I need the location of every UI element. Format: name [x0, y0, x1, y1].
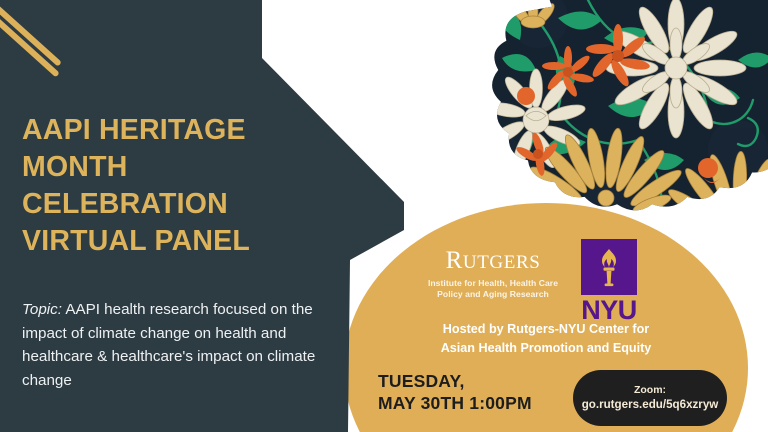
nyu-logo: NYU: [572, 239, 646, 324]
zoom-label: Zoom:: [634, 383, 666, 397]
event-date-line-2: MAY 30TH 1:00PM: [378, 392, 532, 414]
page-title: AAPI HERITAGE MONTH CELEBRATION VIRTUAL …: [22, 112, 322, 260]
hosted-by-text: Hosted by Rutgers-NYU Center for Asian H…: [398, 320, 694, 358]
rutgers-logo: RUTGERS Institute for Health, Health Car…: [418, 248, 568, 301]
event-date: TUESDAY, MAY 30TH 1:00PM: [378, 370, 532, 414]
topic-body: AAPI health research focused on the impa…: [22, 301, 315, 389]
rutgers-sub-line-2: Policy and Aging Research: [418, 289, 568, 300]
gold-diagonal-lines-decor: [0, 0, 130, 100]
title-line-1: AAPI HERITAGE: [22, 112, 322, 149]
rutgers-wordmark-cap: R: [446, 247, 463, 274]
title-line-2: MONTH: [22, 149, 322, 186]
zoom-url[interactable]: go.rutgers.edu/5q6xzryw: [582, 397, 719, 413]
event-date-line-1: TUESDAY,: [378, 370, 532, 392]
topic-description: Topic: AAPI health research focused on t…: [22, 298, 334, 392]
nyu-torch-badge: [581, 239, 637, 295]
hosted-line-1: Hosted by Rutgers-NYU Center for: [398, 320, 694, 339]
title-line-3: CELEBRATION: [22, 186, 322, 223]
zoom-link-badge[interactable]: Zoom: go.rutgers.edu/5q6xzryw: [573, 370, 727, 426]
rutgers-wordmark-rest: UTGERS: [463, 252, 541, 273]
title-line-4: VIRTUAL PANEL: [22, 223, 322, 260]
hosted-line-2: Asian Health Promotion and Equity: [398, 339, 694, 358]
topic-label: Topic:: [22, 301, 62, 318]
poster-canvas: AAPI HERITAGE MONTH CELEBRATION VIRTUAL …: [0, 0, 768, 432]
rutgers-institute-name: Institute for Health, Health Care Policy…: [418, 278, 568, 301]
rutgers-sub-line-1: Institute for Health, Health Care: [418, 278, 568, 289]
torch-icon: [592, 247, 626, 287]
rutgers-wordmark: RUTGERS: [418, 248, 568, 273]
